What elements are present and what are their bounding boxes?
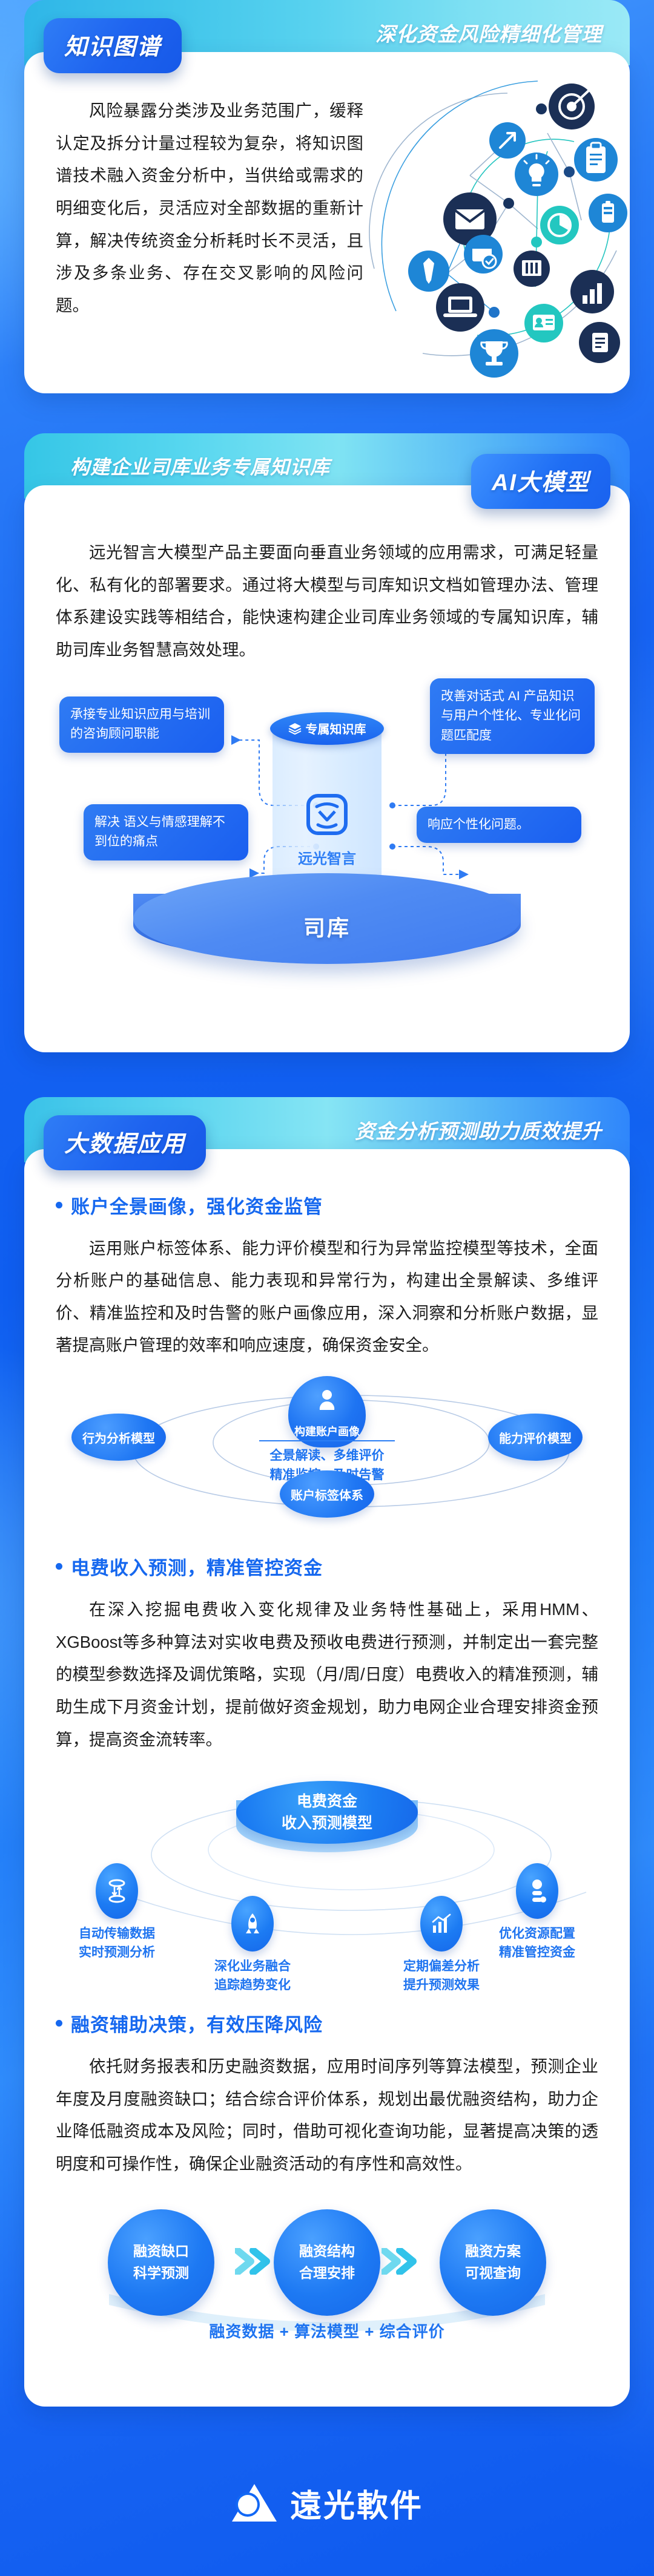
ai-node-top-right: 改善对话式 AI 产品知识与用户个性化、专业化问题匹配度 — [430, 678, 595, 755]
person-icon — [319, 1389, 335, 1410]
knowledge-base-cap: 专属知识库 — [270, 712, 384, 745]
financing-step-1: 融资缺口 科学预测 — [108, 2209, 214, 2316]
financing-step-1-line2: 科学预测 — [133, 2263, 189, 2284]
electricity-node-2-line1: 深化业务融合 — [195, 1958, 310, 1976]
financing-flow-diagram: 融资缺口 科学预测 融资结构 合理安排 — [56, 2201, 598, 2352]
resource-gear-icon — [516, 1863, 558, 1919]
clipboard-icon — [574, 138, 618, 182]
page-footer: 遠光軟件 — [0, 2431, 654, 2576]
big-data-card: 账户全景画像，强化资金监管 运用账户标签体系、能力评价模型和行为异常监控模型等技… — [24, 1149, 630, 2407]
growth-arrow-icon — [489, 122, 526, 159]
electricity-forecast-center: 电费资金 收入预测模型 — [236, 1781, 418, 1853]
electricity-node-4-line1: 优化资源配置 — [480, 1925, 595, 1943]
financing-step-3-line1: 融资方案 — [465, 2241, 521, 2263]
chart-up-icon — [420, 1896, 463, 1952]
topic-1-title: 账户全景画像，强化资金监管 — [71, 1191, 323, 1219]
ai-node-top-left: 承接专业知识应用与培训的咨询顾问职能 — [59, 696, 224, 753]
knowledge-base-cylinder: 专属知识库 远光智言 — [272, 728, 381, 879]
id-card-icon — [524, 304, 563, 342]
trophy-icon — [470, 329, 518, 378]
account-portrait-node-capability-label: 能力评价模型 — [499, 1429, 572, 1446]
target-icon — [549, 84, 595, 129]
financing-step-1-line1: 融资缺口 — [133, 2241, 189, 2263]
calendar-check-icon — [464, 235, 503, 274]
electricity-node-4-line2: 精准管控资金 — [480, 1944, 595, 1962]
account-portrait-line-1: 全景解读、多维评价 — [259, 1446, 395, 1466]
electricity-node-4: 优化资源配置 精准管控资金 — [480, 1863, 595, 1962]
triangle-circle-logo-icon — [231, 2482, 278, 2525]
treasury-disc-label: 司库 — [303, 911, 351, 942]
electricity-center-line1: 电费资金 — [282, 1791, 372, 1812]
knowledge-graph-card: 风险暴露分类涉及业务范围广，缓释认定及拆分计量过程较为复杂，将知识图谱技术融入资… — [24, 52, 630, 393]
electricity-node-1: 自动传输数据 实时预测分析 — [59, 1863, 174, 1962]
knowledge-graph-text-column: 风险暴露分类涉及业务范围广，缓释认定及拆分计量过程较为复杂，将知识图谱技术融入资… — [24, 94, 363, 355]
electricity-node-1-line2: 实时预测分析 — [59, 1944, 174, 1962]
electricity-forecast-diagram: 电费资金 收入预测模型 — [56, 1777, 598, 1977]
account-portrait-node-capability: 能力评价模型 — [488, 1414, 583, 1461]
knowledge-base-cap-label: 专属知识库 — [306, 719, 366, 737]
ai-node-bottom-left-text: 解决 语义与情感理解不到位的痛点 — [94, 815, 225, 849]
chevron-right-icon-1 — [235, 2248, 272, 2275]
knowledge-graph-tab-label: 知识图谱 — [64, 34, 161, 60]
topic-2-body: 在深入挖掘电费收入变化规律及业务特性基础上，采用HMM、XGBoost等多种算法… — [56, 1593, 598, 1755]
stack-layers-icon — [288, 723, 302, 735]
electricity-node-1-line1: 自动传输数据 — [59, 1925, 174, 1943]
electricity-node-3-line2: 提升预测效果 — [384, 1976, 499, 1994]
big-data-tab-label: 大数据应用 — [64, 1132, 185, 1157]
topic-financing-decision: 融资辅助决策，有效压降风险 依托财务报表和历史融资数据，应用时间序列等算法模型，… — [56, 2010, 598, 2352]
topic-2-title: 电费收入预测，精准管控资金 — [71, 1553, 323, 1580]
bullet-dot-icon — [56, 1202, 62, 1208]
section-big-data: 资金分析预测助力质效提升 大数据应用 账户全景画像，强化资金监管 运用账户标签体… — [0, 1097, 654, 2431]
graph-node-dot — [531, 237, 542, 247]
bullet-dot-icon — [56, 2020, 62, 2027]
ai-model-diagram: 承接专业知识应用与培训的咨询顾问职能 解决 语义与情感理解不到位的痛点 改善对话… — [56, 692, 598, 1018]
topic-electricity-forecast: 电费收入预测，精准管控资金 在深入挖掘电费收入变化规律及业务特性基础上，采用HM… — [56, 1553, 598, 1977]
knowledge-graph-banner-text: 深化资金风险精细化管理 — [375, 18, 602, 47]
ai-model-banner-text: 构建企业司库业务专属知识库 — [70, 452, 330, 480]
books-icon — [514, 251, 550, 287]
laptop-icon — [436, 283, 484, 332]
account-portrait-node-behavior-label: 行为分析模型 — [82, 1429, 155, 1446]
graph-node-dot — [489, 307, 500, 318]
ai-node-bottom-right: 响应个性化问题。 — [417, 807, 581, 844]
data-transfer-icon — [96, 1863, 138, 1919]
account-portrait-node-tagging-label: 账户标签体系 — [291, 1486, 363, 1503]
financing-flow-footer: 融资数据 + 算法模型 + 综合评价 — [209, 2319, 444, 2342]
company-logo-text: 遠光軟件 — [290, 2480, 423, 2526]
ai-model-tab-label: AI大模型 — [492, 470, 590, 496]
pie-chart-icon — [540, 206, 579, 244]
electricity-node-2-line2: 追踪趋势变化 — [195, 1976, 310, 1994]
graph-node-dot — [564, 166, 575, 177]
account-portrait-pin: 构建账户画像 — [288, 1376, 366, 1447]
bar-chart-icon — [570, 270, 614, 313]
section-knowledge-graph: 深化资金风险精细化管理 知识图谱 风险暴露分类涉及业务范围广，缓释认定及拆分计量… — [0, 0, 654, 393]
financing-step-3-line2: 可视查询 — [465, 2263, 521, 2284]
chevron-right-icon-2 — [381, 2248, 419, 2275]
graph-node-dot — [536, 103, 547, 114]
knowledge-graph-body: 风险暴露分类涉及业务范围广，缓释认定及拆分计量过程较为复杂，将知识图谱技术融入资… — [56, 94, 363, 321]
ai-node-top-right-text: 改善对话式 AI 产品知识与用户个性化、专业化问题匹配度 — [441, 689, 581, 742]
account-portrait-pin-label: 构建账户画像 — [294, 1423, 360, 1439]
rocket-icon — [231, 1896, 274, 1952]
big-data-tab[interactable]: 大数据应用 — [44, 1115, 206, 1170]
topic-3-title: 融资辅助决策，有效压降风险 — [71, 2010, 323, 2037]
knowledge-graph-illustration: .nl { fill:none; stroke:#9fb6cf; stroke-… — [363, 94, 630, 355]
lightbulb-icon — [515, 152, 558, 196]
battery-icon — [589, 194, 627, 232]
knowledge-graph-network-svg: .nl { fill:none; stroke:#9fb6cf; stroke-… — [356, 69, 630, 384]
account-portrait-node-behavior: 行为分析模型 — [71, 1414, 166, 1461]
knowledge-graph-tab[interactable]: 知识图谱 — [44, 18, 182, 73]
ai-model-body: 远光智言大模型产品主要面向垂直业务领域的应用需求，可满足轻量化、私有化的部署要求… — [56, 536, 598, 666]
yuanguang-zhiyan-mark-icon — [303, 791, 351, 838]
electricity-forecast-center-label: 电费资金 收入预测模型 — [236, 1781, 418, 1844]
account-portrait-center: 构建账户画像 — [286, 1376, 368, 1447]
tie-icon — [408, 251, 449, 292]
financing-step-2-line1: 融资结构 — [299, 2241, 355, 2263]
treasury-disc: 司库 — [133, 873, 521, 982]
section-ai-model: 构建企业司库业务专属知识库 AI大模型 远光智言大模型产品主要面向垂直业务领域的… — [0, 433, 654, 1052]
bullet-dot-icon — [56, 1563, 62, 1570]
ai-model-card: 远光智言大模型产品主要面向垂直业务领域的应用需求，可满足轻量化、私有化的部署要求… — [24, 485, 630, 1052]
ai-model-tab[interactable]: AI大模型 — [471, 454, 610, 509]
document-icon — [579, 322, 620, 363]
ai-node-bottom-right-text: 响应个性化问题。 — [428, 818, 529, 831]
topic-account-portrait: 账户全景画像，强化资金监管 运用账户标签体系、能力评价模型和行为异常监控模型等技… — [56, 1191, 598, 1523]
big-data-banner-text: 资金分析预测助力质效提升 — [355, 1115, 602, 1144]
topic-3-body: 依托财务报表和历史融资数据，应用时间序列等算法模型，预测企业年度及月度融资缺口；… — [56, 2050, 598, 2180]
ai-node-top-left-text: 承接专业知识应用与培训的咨询顾问职能 — [70, 707, 210, 741]
financing-step-2: 融资结构 合理安排 — [274, 2209, 380, 2316]
financing-step-2-line2: 合理安排 — [299, 2263, 355, 2284]
financing-step-3: 融资方案 可视查询 — [440, 2209, 546, 2316]
electricity-node-2: 深化业务融合 追踪趋势变化 — [195, 1896, 310, 1994]
electricity-center-line2: 收入预测模型 — [282, 1812, 372, 1834]
zhiyan-label: 远光智言 — [298, 847, 356, 868]
account-portrait-diagram: 构建账户画像 全景解读、多维评价 精准监控、及时告警 行为分析模型 能力评价模型 — [56, 1380, 598, 1522]
ai-node-bottom-left: 解决 语义与情感理解不到位的痛点 — [84, 804, 248, 860]
account-portrait-node-tagging: 账户标签体系 — [280, 1470, 374, 1518]
topic-1-body: 运用账户标签体系、能力评价模型和行为异常监控模型等技术，全面分析账户的基础信息、… — [56, 1232, 598, 1362]
graph-node-dot — [503, 198, 514, 209]
infographic-page: 深化资金风险精细化管理 知识图谱 风险暴露分类涉及业务范围广，缓释认定及拆分计量… — [0, 0, 654, 2576]
